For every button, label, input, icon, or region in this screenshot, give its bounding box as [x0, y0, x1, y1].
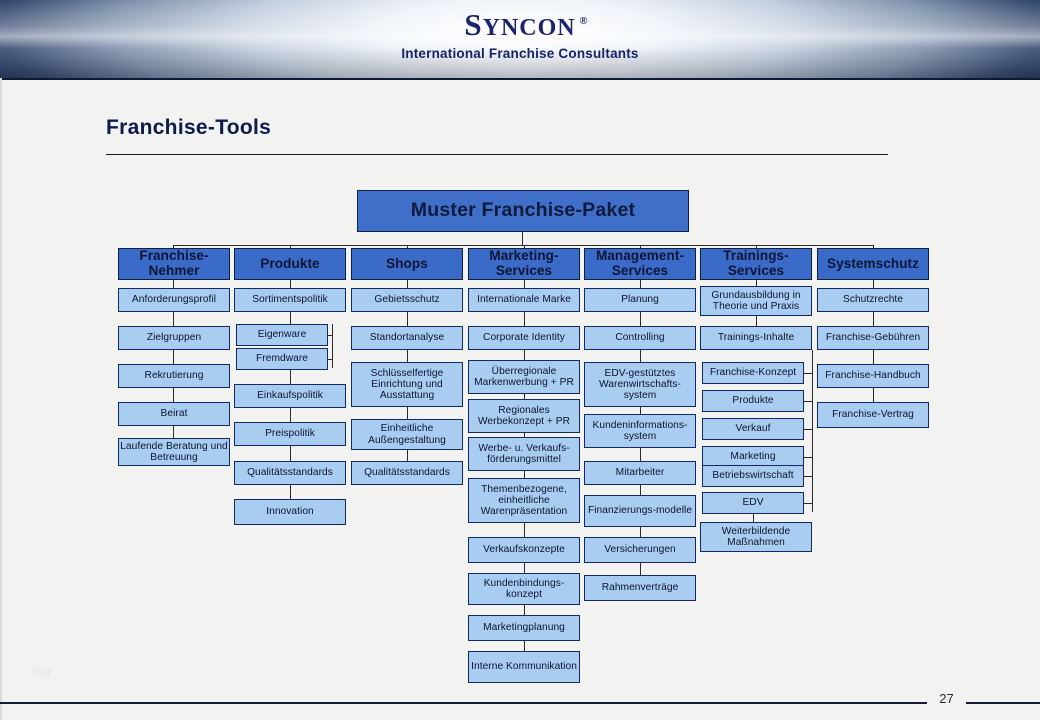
connector: [524, 605, 525, 615]
node-weiterbildende-massnahmen[interactable]: Weiterbildende Maßnahmen: [700, 522, 812, 552]
node-zielgruppen[interactable]: Zielgruppen: [118, 326, 230, 350]
connector: [290, 280, 291, 288]
node-beirat[interactable]: Beirat: [118, 402, 230, 426]
connector: [524, 563, 525, 573]
column-header-trainings-services[interactable]: Trainings-Services: [700, 248, 812, 280]
node-einheitliche-aussengestaltung[interactable]: Einheitliche Außengestaltung: [351, 419, 463, 450]
node-fremdware[interactable]: Fremdware: [236, 348, 328, 370]
connector: [407, 450, 408, 461]
connector: [640, 527, 641, 537]
node-werbe-und-verkaufsfoerderungsmittel[interactable]: Werbe- u. Verkaufs-förderungsmittel: [468, 437, 580, 471]
column-header-marketing-services[interactable]: Marketing-Services: [468, 248, 580, 280]
connector: [524, 350, 525, 360]
node-interne-kommunikation[interactable]: Interne Kommunikation: [468, 651, 580, 683]
connector: [290, 408, 291, 422]
page-number: 27: [928, 691, 965, 706]
connector: [812, 350, 813, 512]
node-controlling[interactable]: Controlling: [584, 326, 696, 350]
node-edv-gestuetztes-warenwirtschaftssystem[interactable]: EDV-gestütztes Warenwirtschafts-system: [584, 362, 696, 407]
connector: [407, 350, 408, 362]
connector: [873, 280, 874, 288]
connector: [407, 312, 408, 326]
node-sortimentspolitik[interactable]: Sortimentspolitik: [234, 288, 346, 312]
node-ueberregionale-markenwerbung-pr[interactable]: Überregionale Markenwerbung + PR: [468, 360, 580, 394]
node-schluesselfertige-einrichtung-und-ausstattung[interactable]: Schlüsselfertige Einrichtung und Ausstat…: [351, 362, 463, 407]
node-grundausbildung-in-theorie-und-praxis[interactable]: Grundausbildung in Theorie und Praxis: [700, 286, 812, 316]
footer-watermark: bsg: [32, 666, 51, 678]
connector: [753, 514, 754, 522]
footer-divider-right: [966, 702, 1040, 704]
node-mitarbeiter[interactable]: Mitarbeiter: [584, 461, 696, 485]
column-header-management-services[interactable]: Management-Services: [584, 248, 696, 280]
node-corporate-identity[interactable]: Corporate Identity: [468, 326, 580, 350]
node-laufende-beratung-und-betreuung[interactable]: Laufende Beratung und Betreuung: [118, 438, 230, 466]
connector: [873, 312, 874, 326]
node-standortanalyse[interactable]: Standortanalyse: [351, 326, 463, 350]
connector: [407, 280, 408, 288]
node-eigenware[interactable]: Eigenware: [236, 324, 328, 346]
node-franchise-handbuch[interactable]: Franchise-Handbuch: [817, 364, 929, 388]
connector: [640, 485, 641, 495]
connector: [640, 407, 641, 414]
connector: [328, 359, 333, 360]
node-regionales-werbekonzept-pr[interactable]: Regionales Werbekonzept + PR: [468, 399, 580, 433]
node-preispolitik[interactable]: Preispolitik: [234, 422, 346, 446]
connector: [640, 280, 641, 288]
node-internationale-marke[interactable]: Internationale Marke: [468, 288, 580, 312]
node-kundenbindungskonzept[interactable]: Kundenbindungs-konzept: [468, 573, 580, 605]
node-verkaufskonzepte[interactable]: Verkaufskonzepte: [468, 537, 580, 563]
column-header-systemschutz[interactable]: Systemschutz: [817, 248, 929, 280]
node-trainings-inhalte[interactable]: Trainings-Inhalte: [700, 326, 812, 350]
node-gebietsschutz[interactable]: Gebietsschutz: [351, 288, 463, 312]
connector: [522, 232, 523, 246]
node-finanzierungsmodelle[interactable]: Finanzierungs-modelle: [584, 495, 696, 527]
connector: [524, 641, 525, 651]
connector: [173, 245, 873, 246]
diagram-root-node[interactable]: Muster Franchise-Paket: [357, 190, 689, 232]
node-innovation[interactable]: Innovation: [234, 499, 346, 525]
node-schutzrechte[interactable]: Schutzrechte: [817, 288, 929, 312]
column-header-produkte[interactable]: Produkte: [234, 248, 346, 280]
node-franchise-konzept[interactable]: Franchise-Konzept: [702, 362, 804, 384]
franchise-package-diagram: Muster Franchise-Paket Franchise-Nehmer …: [0, 0, 1040, 720]
node-planung[interactable]: Planung: [584, 288, 696, 312]
node-anforderungsprofil[interactable]: Anforderungsprofil: [118, 288, 230, 312]
node-edv[interactable]: EDV: [702, 492, 804, 514]
connector: [524, 312, 525, 326]
connector: [804, 429, 813, 430]
connector: [873, 350, 874, 364]
footer-divider-left: [0, 702, 927, 704]
column-header-shops[interactable]: Shops: [351, 248, 463, 280]
node-kundeninformationssystem[interactable]: Kundeninformations-system: [584, 414, 696, 448]
connector: [873, 388, 874, 402]
node-themenbezogene-einheitliche-warenpraesentation[interactable]: Themenbezogene, einheitliche Warenpräsen…: [468, 478, 580, 523]
connector: [173, 280, 174, 288]
connector: [804, 401, 813, 402]
node-versicherungen[interactable]: Versicherungen: [584, 537, 696, 563]
connector: [524, 471, 525, 478]
connector: [173, 388, 174, 402]
connector: [640, 563, 641, 575]
connector: [640, 448, 641, 461]
connector: [804, 373, 813, 374]
connector: [290, 370, 291, 384]
connector: [328, 335, 333, 336]
connector: [173, 312, 174, 326]
node-franchise-gebuehren[interactable]: Franchise-Gebühren: [817, 326, 929, 350]
node-qualitaetsstandards-produkte[interactable]: Qualitätsstandards: [234, 461, 346, 485]
connector: [332, 324, 333, 368]
connector: [173, 350, 174, 364]
node-einkaufspolitik[interactable]: Einkaufspolitik: [234, 384, 346, 408]
connector: [756, 316, 757, 326]
connector: [407, 407, 408, 419]
node-rahmenvertraege[interactable]: Rahmenverträge: [584, 575, 696, 601]
column-header-franchise-nehmer[interactable]: Franchise-Nehmer: [118, 248, 230, 280]
connector: [640, 312, 641, 326]
connector: [290, 446, 291, 461]
connector: [524, 280, 525, 288]
connector: [804, 457, 813, 458]
node-rekrutierung[interactable]: Rekrutierung: [118, 364, 230, 388]
node-qualitaetsstandards-shops[interactable]: Qualitätsstandards: [351, 461, 463, 485]
connector: [524, 523, 525, 537]
connector: [804, 503, 813, 504]
node-marketingplanung[interactable]: Marketingplanung: [468, 615, 580, 641]
node-franchise-vertrag[interactable]: Franchise-Vertrag: [817, 402, 929, 428]
node-verkauf[interactable]: Verkauf: [702, 418, 804, 440]
node-produkte-training[interactable]: Produkte: [702, 390, 804, 412]
node-betriebswirtschaft[interactable]: Betriebswirtschaft: [702, 465, 804, 487]
connector: [173, 426, 174, 438]
connector: [804, 476, 813, 477]
connector: [640, 350, 641, 362]
connector: [290, 312, 291, 324]
connector: [290, 485, 291, 499]
